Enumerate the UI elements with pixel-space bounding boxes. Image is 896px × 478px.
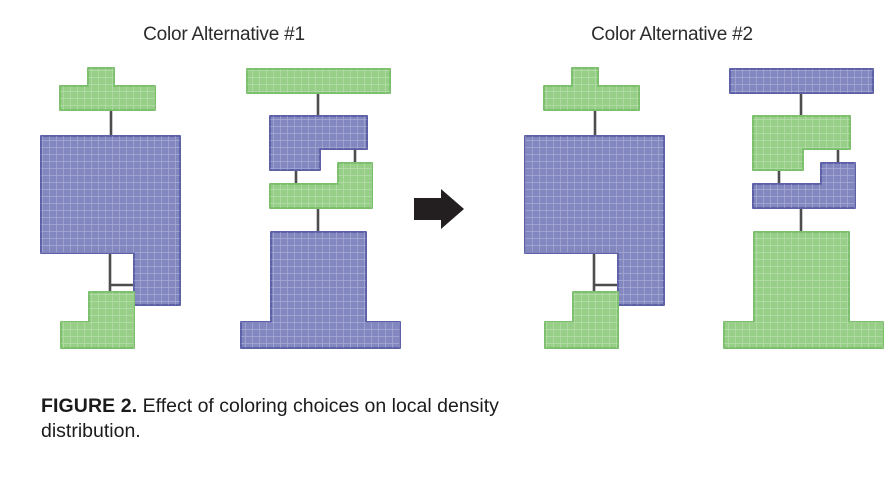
figure-root: Color Alternative #1 Color Alternative #… (0, 0, 896, 478)
panel-1-right-assembly (241, 69, 400, 348)
node-tee-green[interactable] (544, 68, 639, 110)
node-top-bar-blue[interactable] (730, 69, 873, 93)
node-upper-step-blue[interactable] (270, 116, 367, 170)
panel-2-right-assembly (724, 69, 883, 348)
node-tee-green[interactable] (60, 68, 155, 110)
node-top-bar-green[interactable] (247, 69, 390, 93)
node-ell-green[interactable] (61, 292, 134, 348)
node-pedestal-green[interactable] (724, 232, 883, 348)
right-arrow-icon (414, 189, 464, 229)
panel-1-left-assembly (41, 68, 180, 348)
diagram-canvas (0, 0, 896, 400)
figure-caption: FIGURE 2. Effect of coloring choices on … (41, 394, 601, 444)
node-upper-step-green[interactable] (753, 116, 850, 170)
figure-caption-label: FIGURE 2. (41, 395, 137, 417)
node-pedestal-blue[interactable] (241, 232, 400, 348)
panel-2-left-assembly (525, 68, 664, 348)
node-ell-green[interactable] (545, 292, 618, 348)
